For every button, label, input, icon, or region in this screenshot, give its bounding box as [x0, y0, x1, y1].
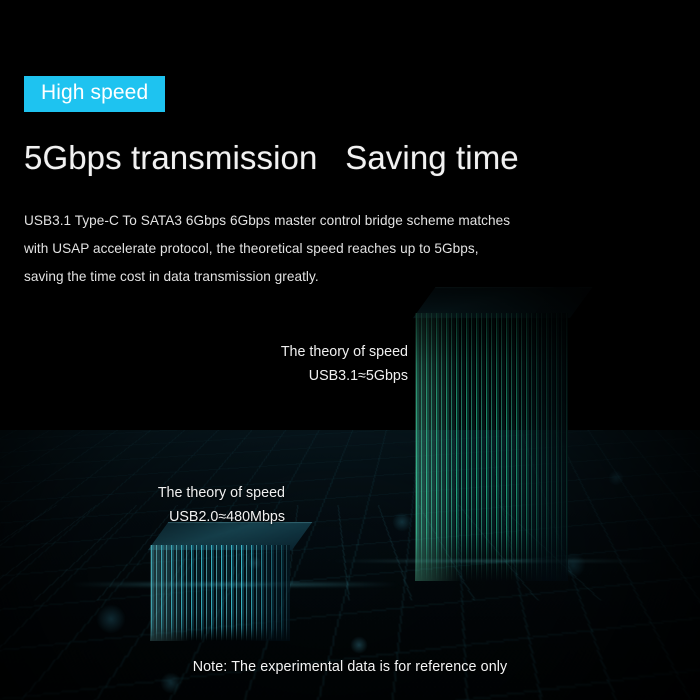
footnote: Note: The experimental data is for refer… [0, 659, 700, 675]
bar-usb31-shadow [512, 313, 568, 581]
bokeh-dot [608, 470, 624, 486]
bar-label-usb20: The theory of speed USB2.0≈480Mbps [158, 481, 285, 529]
bar-usb31 [415, 313, 568, 581]
bar-label-usb20-line2: USB2.0≈480Mbps [158, 505, 285, 529]
bar-usb20-highlight [150, 545, 190, 641]
high-speed-badge: High speed [24, 76, 165, 112]
infographic-slide: High speed 5Gbps transmission Saving tim… [0, 0, 700, 700]
body-paragraph: USB3.1 Type-C To SATA3 6Gbps 6Gbps maste… [24, 207, 544, 291]
bar-label-usb20-line1: The theory of speed [158, 481, 285, 505]
body-line-1: USB3.1 Type-C To SATA3 6Gbps 6Gbps maste… [24, 207, 544, 235]
bar-label-usb31-line2: USB3.1≈5Gbps [281, 364, 408, 388]
bar-usb20-front-face [150, 545, 290, 641]
page-title: 5Gbps transmission Saving time [24, 138, 519, 178]
body-line-2: with USAP accelerate protocol, the theor… [24, 235, 544, 263]
bar-usb31-highlight [415, 313, 461, 581]
body-line-3: saving the time cost in data transmissio… [24, 263, 544, 291]
bar-label-usb31-line1: The theory of speed [281, 340, 408, 364]
bar-usb20-shadow [242, 545, 290, 641]
bar-label-usb31: The theory of speed USB3.1≈5Gbps [281, 340, 408, 388]
bar-usb20 [150, 545, 290, 641]
bar-usb31-front-face [415, 313, 568, 581]
